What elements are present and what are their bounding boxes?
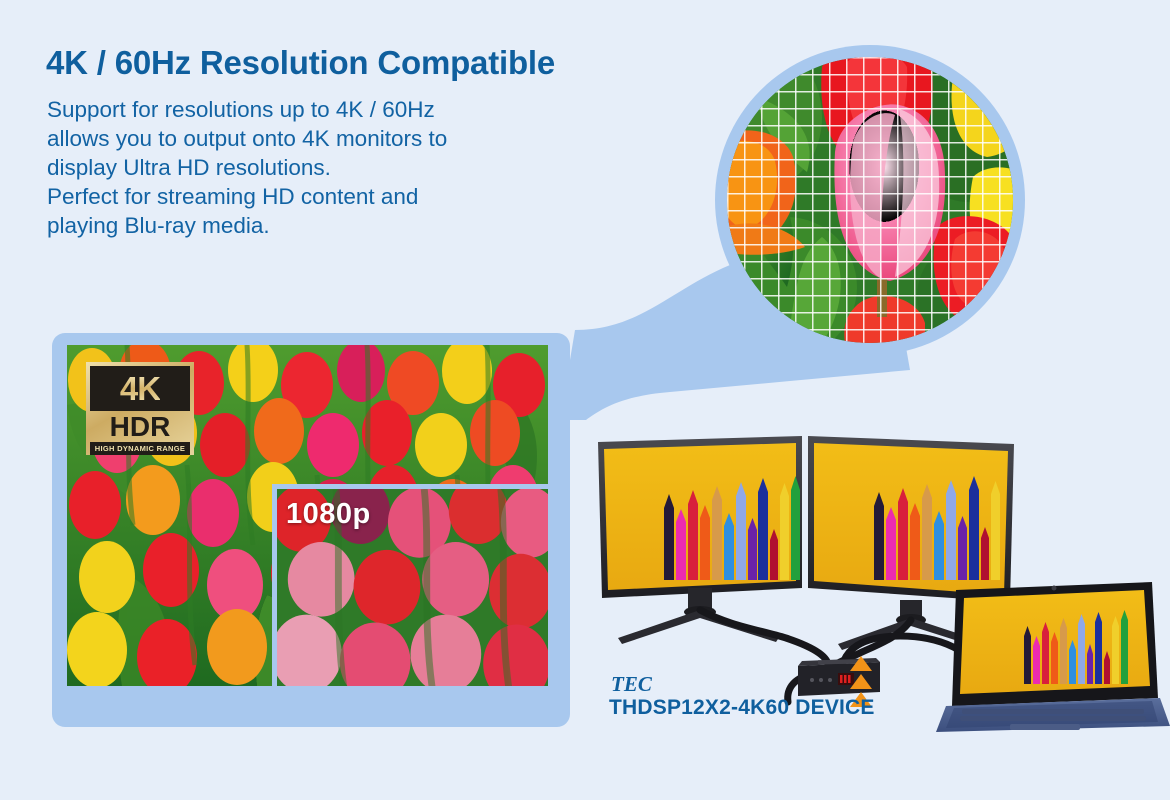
laptop [936, 582, 1170, 732]
model-label: THDSP12X2-4K60 DEVICE [609, 697, 875, 718]
badge-4k-row: 4K [90, 366, 190, 411]
body-line-4: Perfect for streaming HD content and [47, 182, 587, 211]
1080p-label: 1080p [286, 500, 371, 529]
pixel-grid-overlay [727, 57, 1013, 343]
page-title: 4K / 60Hz Resolution Compatible [46, 44, 555, 82]
magnifier-content [727, 57, 1013, 343]
badge-subtitle-row: HIGH DYNAMIC RANGE [90, 442, 190, 455]
badge-subtitle-label: HIGH DYNAMIC RANGE [95, 445, 185, 453]
body-line-5: playing Blu-ray media. [47, 211, 587, 240]
body-line-1: Support for resolutions up to 4K / 60Hz [47, 95, 587, 124]
badge-hdr-row: HDR [90, 411, 190, 442]
body-copy: Support for resolutions up to 4K / 60Hz … [47, 95, 587, 240]
badge-4k-label: 4K [120, 372, 160, 405]
body-line-2: allows you to output onto 4K monitors to [47, 124, 587, 153]
marketing-banner: 4K / 60Hz Resolution Compatible Support … [0, 0, 1170, 800]
4k-hdr-badge: 4K HDR HIGH DYNAMIC RANGE [86, 362, 194, 455]
magnifier-circle [715, 45, 1025, 355]
body-line-3: display Ultra HD resolutions. [47, 153, 587, 182]
brand-label: TEC [611, 674, 652, 695]
badge-hdr-label: HDR [110, 413, 171, 441]
